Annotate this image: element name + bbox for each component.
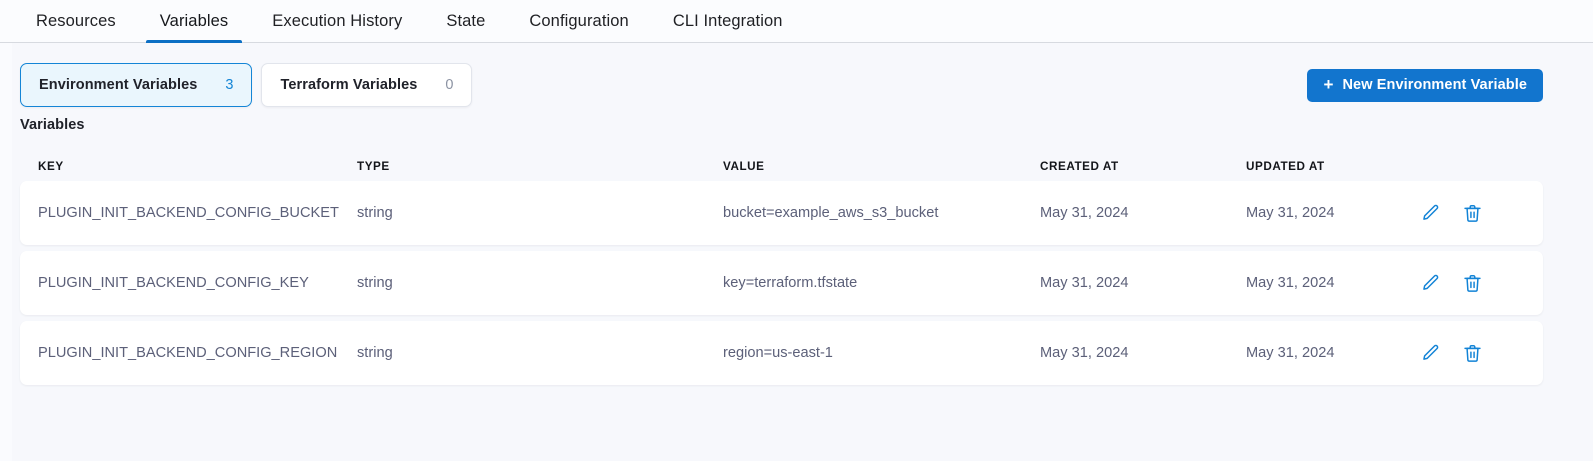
chip-label: Terraform Variables — [280, 77, 417, 93]
cell-key: PLUGIN_INIT_BACKEND_CONFIG_KEY — [38, 275, 357, 291]
chip-label: Environment Variables — [39, 77, 197, 93]
page-body: Environment Variables 3 Terraform Variab… — [0, 43, 1593, 461]
cell-key: PLUGIN_INIT_BACKEND_CONFIG_REGION — [38, 345, 357, 361]
cell-actions — [1419, 202, 1525, 224]
chip-terraform-variables[interactable]: Terraform Variables 0 — [261, 63, 472, 107]
tab-state[interactable]: State — [424, 0, 507, 42]
plus-icon: + — [1323, 76, 1333, 93]
column-header-type: TYPE — [357, 160, 723, 173]
column-header-key: KEY — [38, 160, 357, 173]
primary-tab-bar: Resources Variables Execution History St… — [0, 0, 1593, 43]
edit-icon[interactable] — [1419, 272, 1441, 294]
tab-cli-integration[interactable]: CLI Integration — [651, 0, 805, 42]
tab-label: Variables — [160, 12, 228, 31]
variables-table: KEY TYPE VALUE CREATED AT UPDATED AT PLU… — [20, 151, 1543, 385]
cell-updated-at: May 31, 2024 — [1246, 345, 1419, 361]
cell-actions — [1419, 342, 1525, 364]
chip-count: 3 — [223, 77, 233, 93]
cell-created-at: May 31, 2024 — [1040, 275, 1246, 291]
cell-created-at: May 31, 2024 — [1040, 345, 1246, 361]
tab-execution-history[interactable]: Execution History — [250, 0, 424, 42]
cell-created-at: May 31, 2024 — [1040, 205, 1246, 221]
cell-type: string — [357, 205, 723, 221]
tab-label: Execution History — [272, 12, 402, 31]
column-header-updated-at: UPDATED AT — [1246, 160, 1419, 173]
delete-icon[interactable] — [1461, 342, 1483, 364]
cell-actions — [1419, 272, 1525, 294]
chip-environment-variables[interactable]: Environment Variables 3 — [20, 63, 252, 107]
cell-value: key=terraform.tfstate — [723, 275, 1040, 291]
new-environment-variable-label: New Environment Variable — [1342, 77, 1527, 93]
tab-label: CLI Integration — [673, 12, 783, 31]
cell-type: string — [357, 275, 723, 291]
cell-value: region=us-east-1 — [723, 345, 1040, 361]
table-header-row: KEY TYPE VALUE CREATED AT UPDATED AT — [20, 151, 1543, 181]
table-row[interactable]: PLUGIN_INIT_BACKEND_CONFIG_REGION string… — [20, 321, 1543, 385]
edit-icon[interactable] — [1419, 342, 1441, 364]
table-row[interactable]: PLUGIN_INIT_BACKEND_CONFIG_BUCKET string… — [20, 181, 1543, 245]
tab-configuration[interactable]: Configuration — [507, 0, 650, 42]
tab-label: Configuration — [529, 12, 628, 31]
cell-value: bucket=example_aws_s3_bucket — [723, 205, 1040, 221]
column-header-created-at: CREATED AT — [1040, 160, 1246, 173]
cell-updated-at: May 31, 2024 — [1246, 205, 1419, 221]
column-header-value: VALUE — [723, 160, 1040, 173]
cell-key: PLUGIN_INIT_BACKEND_CONFIG_BUCKET — [38, 205, 357, 221]
content-area: Environment Variables 3 Terraform Variab… — [0, 43, 1593, 385]
delete-icon[interactable] — [1461, 272, 1483, 294]
table-row[interactable]: PLUGIN_INIT_BACKEND_CONFIG_KEY string ke… — [20, 251, 1543, 315]
chip-count: 0 — [443, 77, 453, 93]
page-title: Variables — [20, 117, 1543, 133]
edit-icon[interactable] — [1419, 202, 1441, 224]
cell-updated-at: May 31, 2024 — [1246, 275, 1419, 291]
tab-resources[interactable]: Resources — [14, 0, 138, 42]
new-environment-variable-button[interactable]: + New Environment Variable — [1307, 69, 1543, 102]
tab-variables[interactable]: Variables — [138, 0, 250, 42]
tab-label: Resources — [36, 12, 116, 31]
cell-type: string — [357, 345, 723, 361]
tab-label: State — [446, 12, 485, 31]
variables-toolbar: Environment Variables 3 Terraform Variab… — [20, 43, 1543, 107]
delete-icon[interactable] — [1461, 202, 1483, 224]
